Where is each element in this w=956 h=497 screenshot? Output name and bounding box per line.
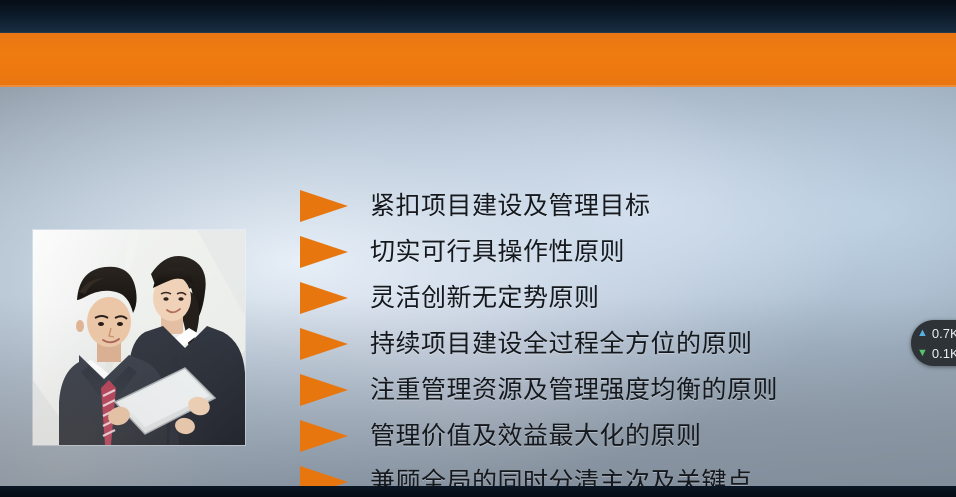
- right-arrow-triangle-icon: [300, 373, 352, 407]
- orange-accent-bar: [0, 33, 956, 87]
- arrow-up-icon: ▲: [917, 328, 928, 339]
- list-item: 持续项目建设全过程全方位的原则: [300, 321, 900, 367]
- upload-speed-row: ▲ 0.7K: [917, 323, 956, 343]
- right-arrow-triangle-icon: [300, 235, 352, 269]
- list-item-label: 切实可行具操作性原则: [370, 240, 625, 265]
- list-item: 管理价值及效益最大化的原则: [300, 413, 900, 459]
- top-dark-band: [0, 0, 956, 33]
- slide-screenshot: 紧扣项目建设及管理目标 切实可行具操作性原则 灵活创新无定势原则 持续项目建设全…: [0, 0, 956, 497]
- slide-content-area: 紧扣项目建设及管理目标 切实可行具操作性原则 灵活创新无定势原则 持续项目建设全…: [0, 87, 956, 486]
- list-item-label: 灵活创新无定势原则: [370, 286, 600, 311]
- list-item: 切实可行具操作性原则: [300, 229, 900, 275]
- list-item-label: 管理价值及效益最大化的原则: [370, 424, 702, 449]
- upload-speed-value: 0.7K: [932, 326, 956, 341]
- list-item: 灵活创新无定势原则: [300, 275, 900, 321]
- right-arrow-triangle-icon: [300, 281, 352, 315]
- download-speed-value: 0.1K: [932, 346, 956, 361]
- right-arrow-triangle-icon: [300, 419, 352, 453]
- list-item-label: 紧扣项目建设及管理目标: [370, 194, 651, 219]
- right-arrow-triangle-icon: [300, 189, 352, 223]
- arrow-down-icon: ▼: [917, 348, 928, 359]
- download-speed-row: ▼ 0.1K: [917, 343, 956, 363]
- business-couple-photo: [33, 230, 245, 445]
- network-speed-widget[interactable]: ▲ 0.7K ▼ 0.1K: [911, 320, 956, 366]
- list-item-label: 注重管理资源及管理强度均衡的原则: [370, 378, 778, 403]
- list-item: 紧扣项目建设及管理目标: [300, 183, 900, 229]
- list-item-label: 持续项目建设全过程全方位的原则: [370, 332, 753, 357]
- bottom-dark-band: [0, 486, 956, 497]
- right-arrow-triangle-icon: [300, 327, 352, 361]
- principles-bullet-list: 紧扣项目建设及管理目标 切实可行具操作性原则 灵活创新无定势原则 持续项目建设全…: [300, 183, 900, 497]
- list-item: 注重管理资源及管理强度均衡的原则: [300, 367, 900, 413]
- photo-artwork: [33, 230, 245, 445]
